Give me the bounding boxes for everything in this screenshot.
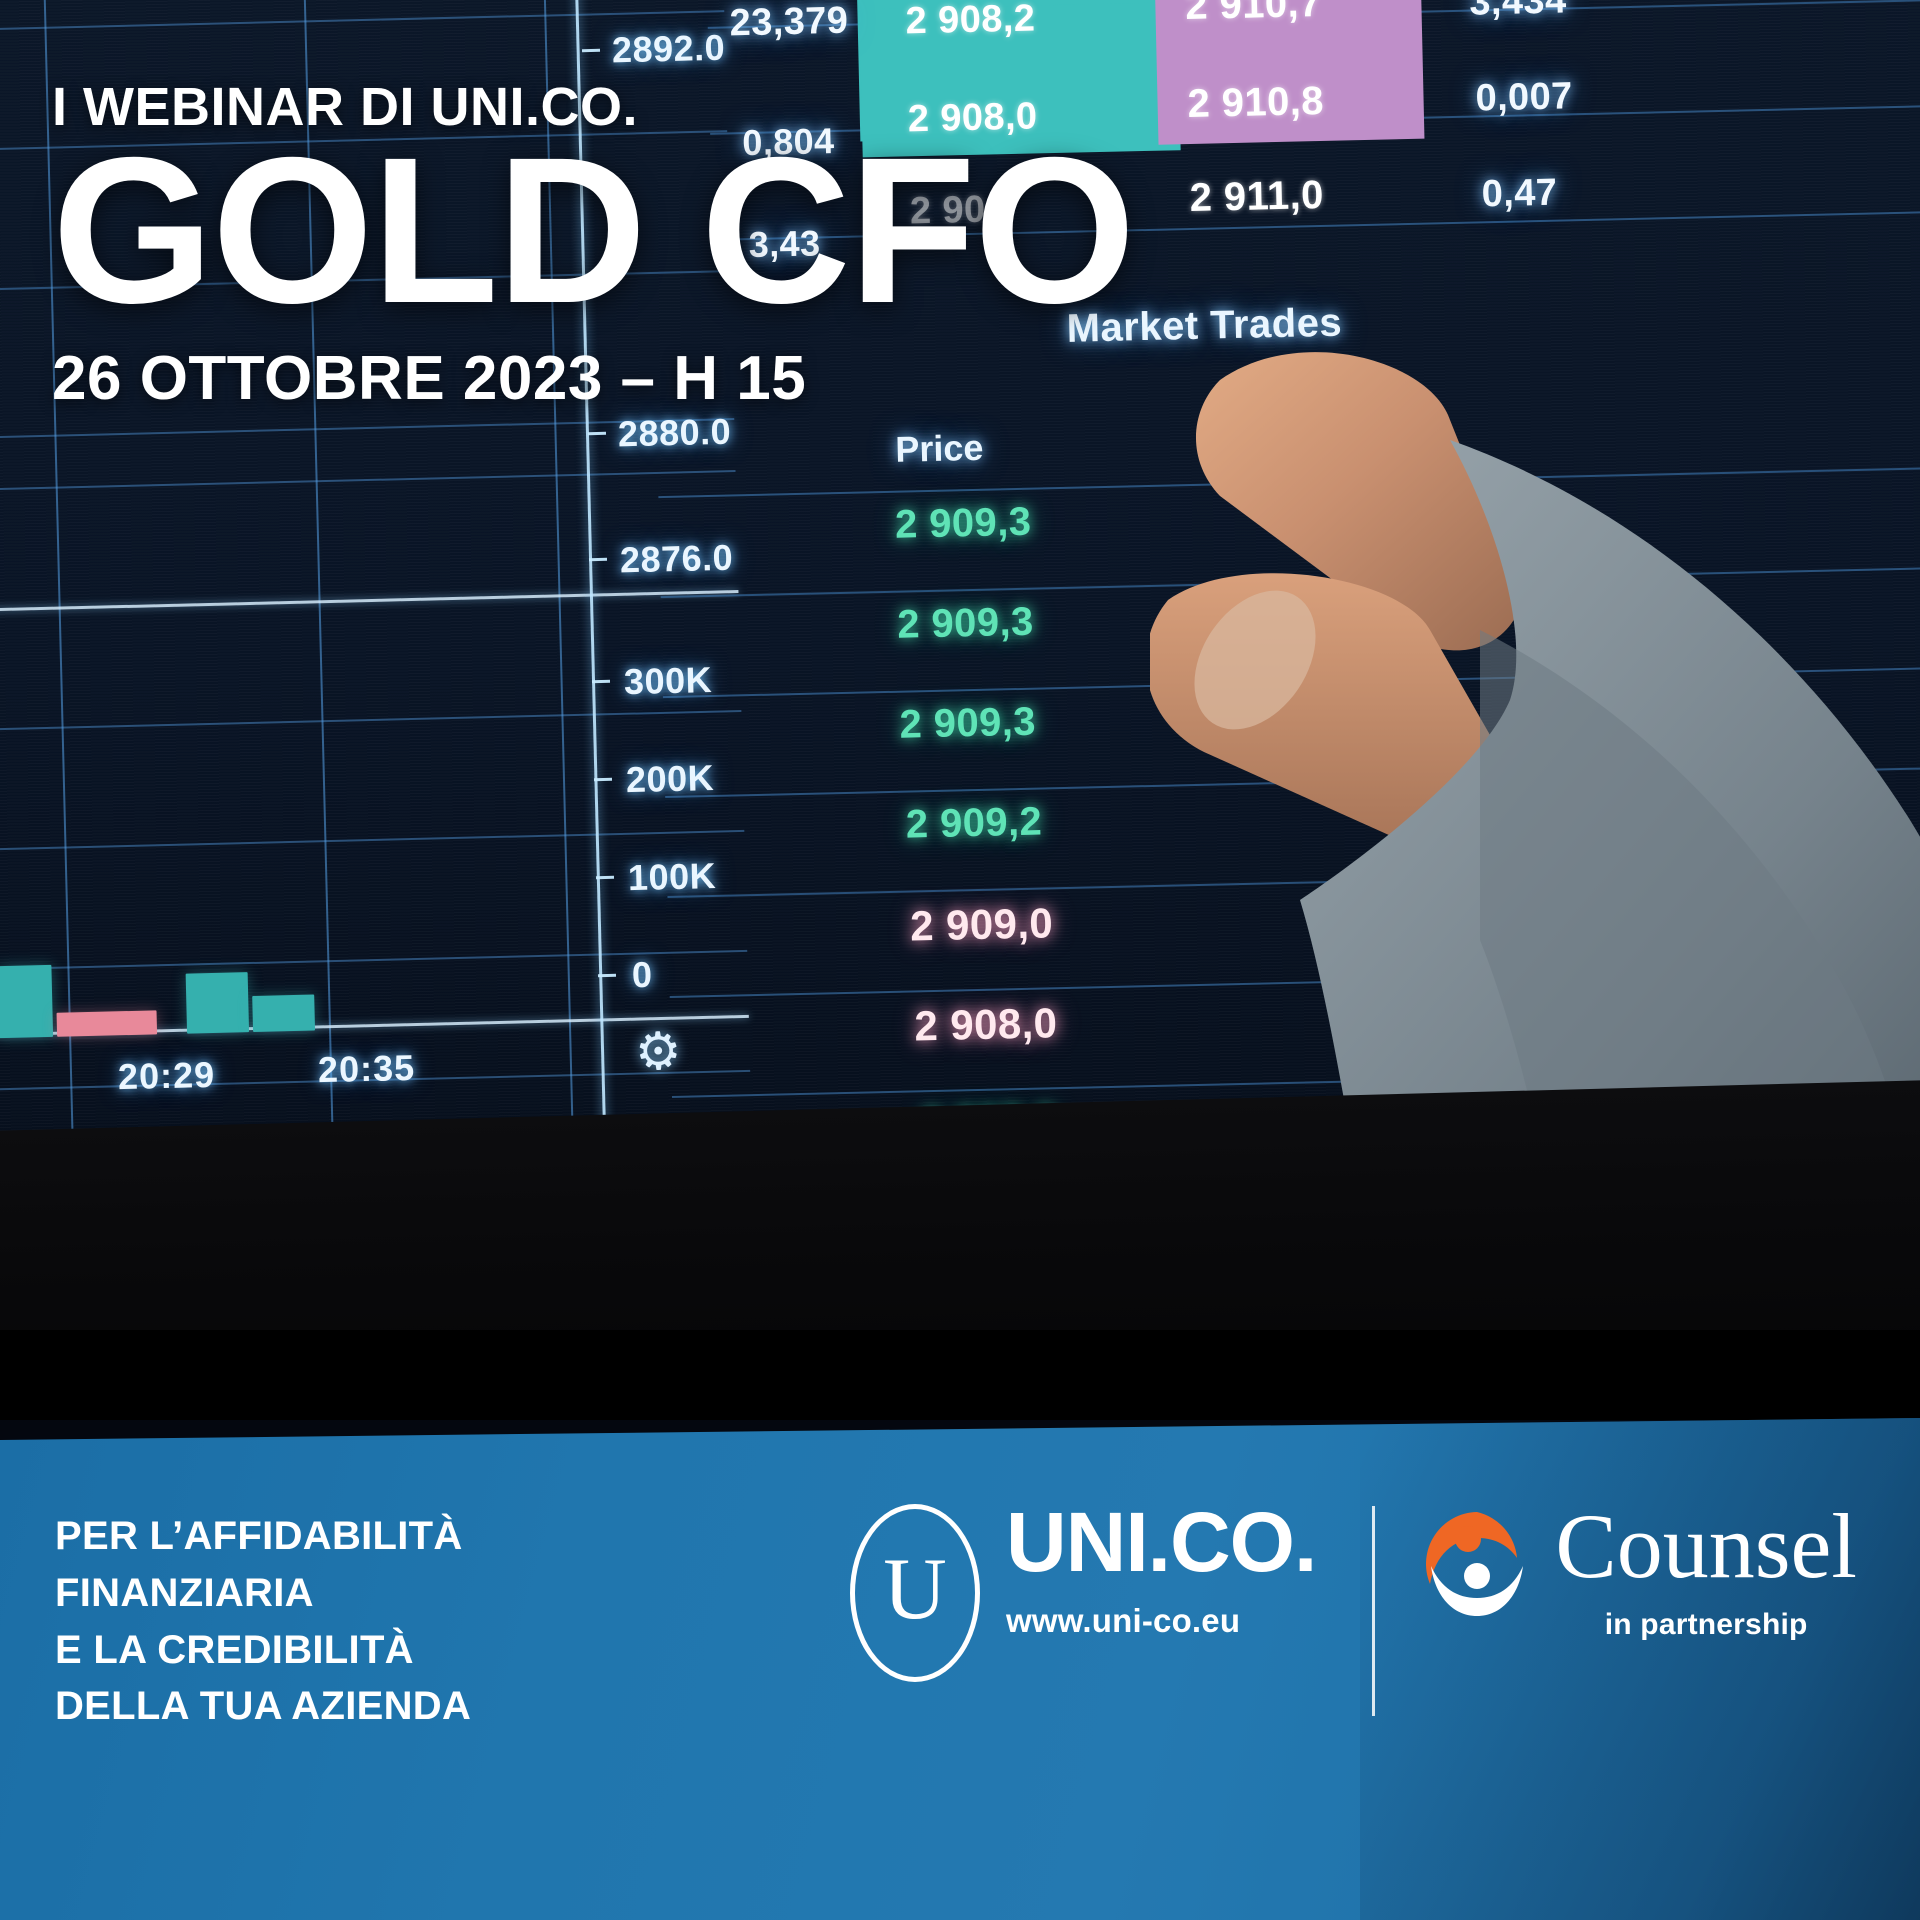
footer-banner: PER L’AFFIDABILITÀ FINANZIARIA E LA CRED… <box>0 1418 1920 1920</box>
y-axis-label-price-2: 2876.0 <box>620 537 734 582</box>
logo-divider <box>1372 1506 1375 1716</box>
tagline-line-3: DELLA TUA AZIENDA <box>55 1678 471 1735</box>
headline-block: I WEBINAR DI UNI.CO. GOLD CFO 26 OTTOBRE… <box>52 80 1352 414</box>
orderbook-right-2: 0,47 <box>1481 172 1558 217</box>
event-date: 26 OTTOBRE 2023 – H 15 <box>52 343 1352 414</box>
tagline-line-1: FINANZIARIA <box>55 1565 471 1622</box>
trade-qty-1: 6,423 <box>1325 587 1423 632</box>
orderbook-bid-0: 2 908,2 <box>905 0 1036 43</box>
counsel-subtitle: in partnership <box>1605 1608 1808 1642</box>
tagline-line-2: E LA CREDIBILITÀ <box>55 1622 471 1679</box>
y-axis-label-volume-2: 100K <box>628 855 717 899</box>
counsel-wordmark: Counsel <box>1555 1500 1857 1592</box>
x-axis-label-1: 20:35 <box>318 1047 416 1091</box>
monitor-bezel-lower <box>0 1330 1920 1420</box>
trade-qty-0: 0,10 <box>1318 487 1395 532</box>
logo-row: U UNI.CO. www.uni-co.eu <box>850 1500 1857 1716</box>
promo-poster: 2892.0 2880.0 2876.0 300K 200K 100K 0 20… <box>0 0 1920 1920</box>
unico-monogram: U <box>883 1546 947 1634</box>
counsel-logo[interactable]: Counsel in partnership <box>1421 1500 1857 1642</box>
trade-price-4: 2 909,0 <box>910 899 1054 950</box>
orderbook-left-0: 23,379 <box>729 0 849 45</box>
page-title: GOLD CFO <box>52 140 1352 323</box>
tagline-line-0: PER L’AFFIDABILITÀ <box>55 1508 471 1565</box>
unico-oval-icon: U <box>850 1504 980 1682</box>
trade-price-3: 2 909,2 <box>905 800 1042 848</box>
unico-logo[interactable]: U UNI.CO. www.uni-co.eu <box>850 1500 1316 1682</box>
price-column-header: Price <box>895 427 984 471</box>
trade-price-0: 2 909,3 <box>895 500 1032 548</box>
orderbook-ask-0: 2 910,7 <box>1185 0 1322 29</box>
y-axis-label-price-1: 2880.0 <box>618 411 732 456</box>
trade-price-5: 2 908,0 <box>914 999 1058 1050</box>
gear-icon[interactable]: ⚙ <box>634 1021 682 1082</box>
unico-wordmark: UNI.CO. <box>1006 1500 1316 1584</box>
orderbook-right-1: 0,007 <box>1475 75 1573 120</box>
x-axis-label-0: 20:29 <box>118 1054 216 1098</box>
trade-price-1: 2 909,3 <box>897 600 1034 648</box>
tagline-block: PER L’AFFIDABILITÀ FINANZIARIA E LA CRED… <box>55 1508 471 1735</box>
counsel-mark-icon <box>1421 1508 1533 1620</box>
y-axis-label-volume-3: 0 <box>631 954 653 996</box>
orderbook-right-0: 3,434 <box>1469 0 1567 25</box>
unico-website[interactable]: www.uni-co.eu <box>1006 1602 1316 1640</box>
trade-price-2: 2 909,3 <box>899 700 1036 748</box>
